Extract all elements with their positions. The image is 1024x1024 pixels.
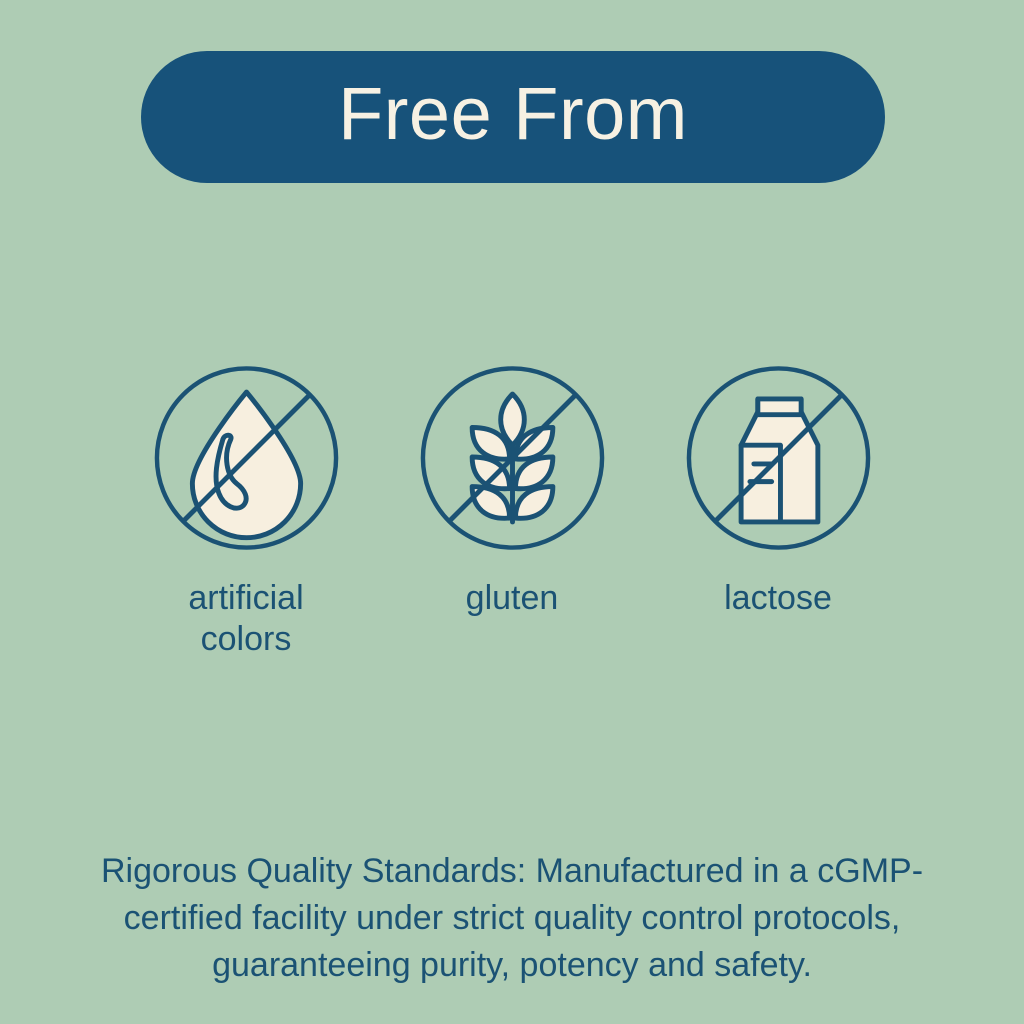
- free-from-item-lactose: lactose: [685, 360, 872, 619]
- quality-standards-note: Rigorous Quality Standards: Manufactured…: [62, 848, 962, 989]
- no-gluten-icon: [419, 360, 606, 556]
- no-artificial-colors-icon: [153, 360, 340, 556]
- no-lactose-icon: [685, 360, 872, 556]
- free-from-label-artificial-colors: artificial colors: [188, 578, 303, 660]
- free-from-item-gluten: gluten: [419, 360, 606, 619]
- header-pill: Free From: [141, 51, 885, 183]
- free-from-label-gluten: gluten: [466, 578, 559, 619]
- free-from-panel: Free From artificial colors: [0, 0, 1024, 1024]
- page-title: Free From: [338, 77, 688, 157]
- free-from-label-lactose: lactose: [724, 578, 832, 619]
- free-from-icon-row: artificial colors: [0, 360, 1024, 660]
- free-from-item-artificial-colors: artificial colors: [153, 360, 340, 660]
